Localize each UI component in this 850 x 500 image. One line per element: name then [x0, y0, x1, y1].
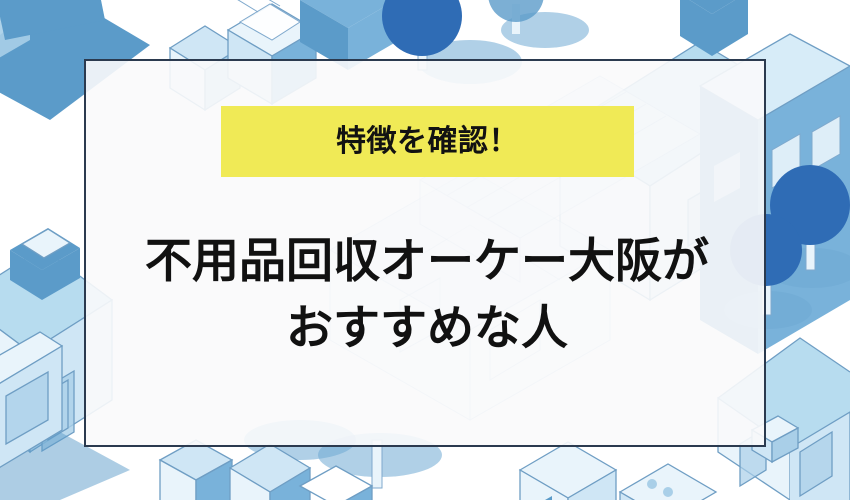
highlight-badge: 特徴を確認！	[221, 106, 634, 177]
headline-line-2: おすすめな人	[86, 294, 768, 361]
content-card: 特徴を確認！ 不用品回収オーケー大阪が おすすめな人	[84, 59, 766, 447]
article-headline: 不用品回収オーケー大阪が おすすめな人	[86, 227, 768, 361]
thumbnail-canvas: .rfM{fill:#5b9bc9;} .rfL{fill:#b7dcef;} …	[0, 0, 850, 500]
headline-line-1: 不用品回収オーケー大阪が	[86, 227, 768, 294]
highlight-badge-label: 特徴を確認！	[336, 127, 519, 157]
